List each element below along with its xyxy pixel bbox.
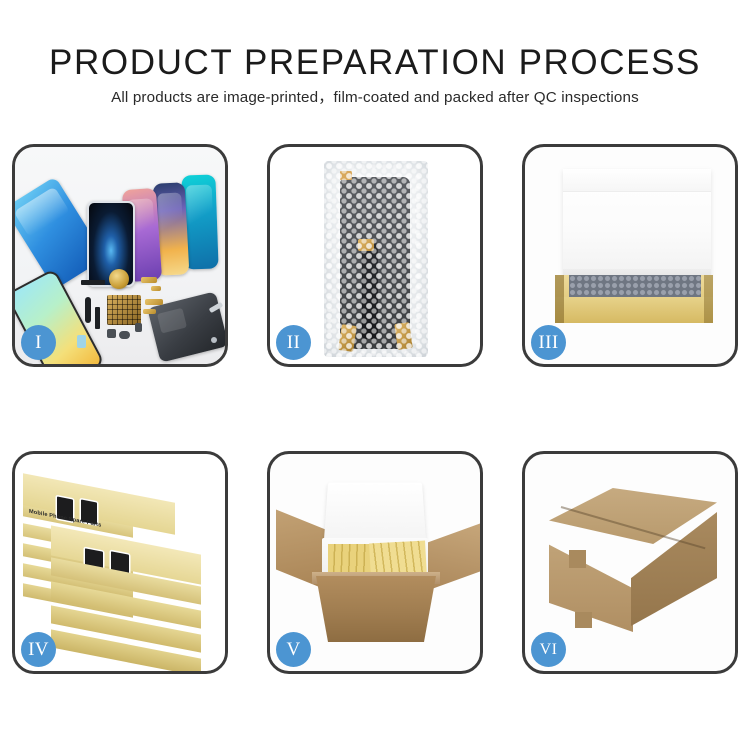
step-numeral-badge-4: IV	[21, 632, 56, 667]
process-step-panel-1[interactable]: I	[12, 144, 228, 367]
step-numeral-badge-2: II	[276, 325, 311, 360]
page-subtitle: All products are image-printed，film-coat…	[0, 88, 750, 108]
process-step-panel-3[interactable]: III	[522, 144, 738, 367]
process-step-panel-2[interactable]: II	[267, 144, 483, 367]
step-numeral-badge-1: I	[21, 325, 56, 360]
process-step-grid: I II	[12, 144, 738, 674]
step-numeral-badge-6: VI	[531, 632, 566, 667]
process-step-panel-5[interactable]: V	[267, 451, 483, 674]
step-numeral-badge-5: V	[276, 632, 311, 667]
page-header: PRODUCT PREPARATION PROCESS All products…	[0, 0, 750, 130]
step-numeral-badge-3: III	[531, 325, 566, 360]
process-step-panel-6[interactable]: VI	[522, 451, 738, 674]
process-step-panel-4[interactable]: Mobile Phone Spare Parts Mobile Phone Sp…	[12, 451, 228, 674]
page-title: PRODUCT PREPARATION PROCESS	[0, 43, 750, 83]
